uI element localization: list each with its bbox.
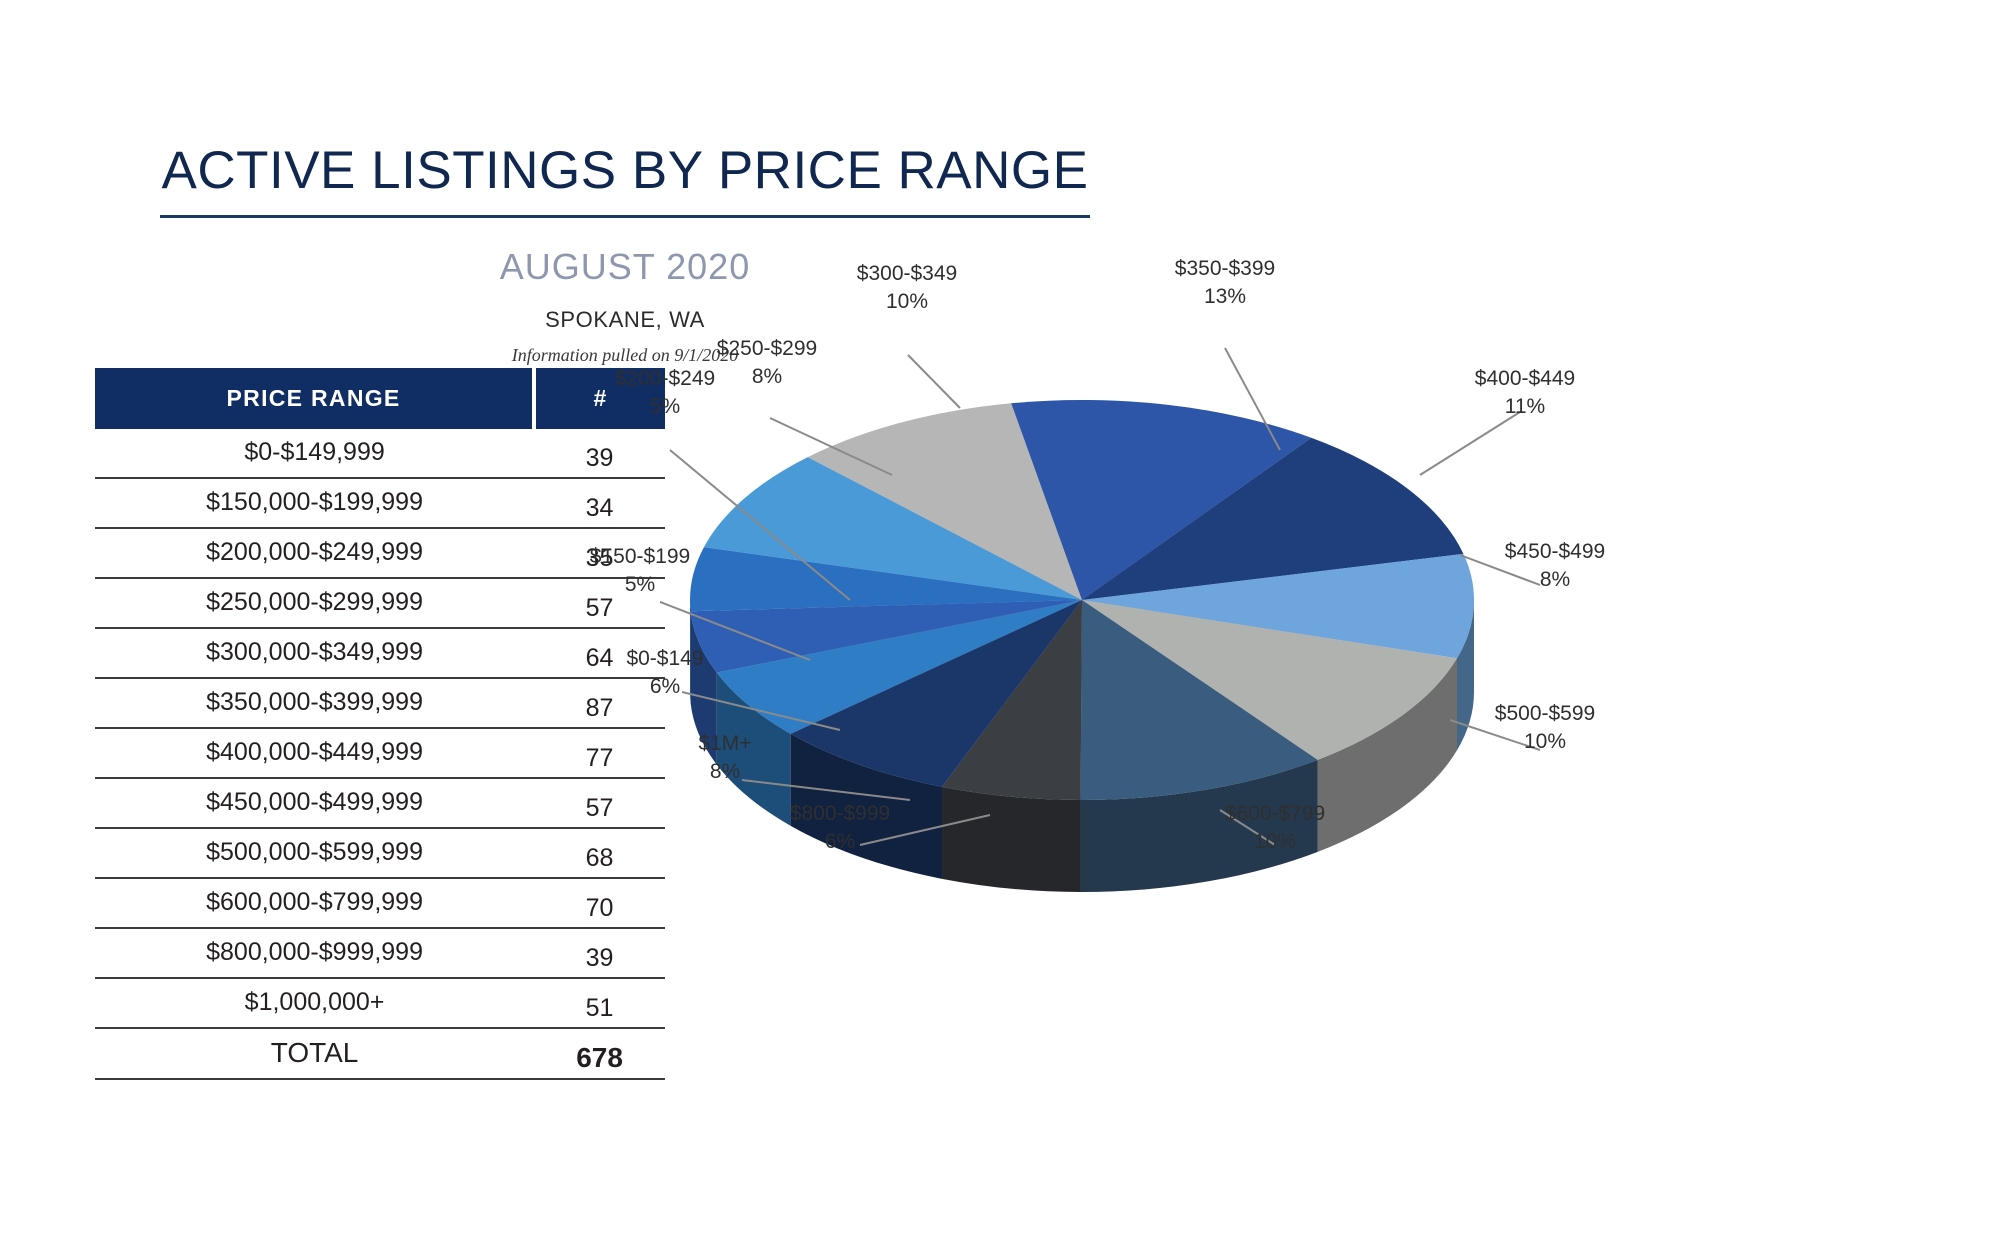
page-subtitle: AUGUST 2020	[0, 246, 1250, 288]
pie-label-350-399: $350-$399 13%	[1130, 255, 1320, 312]
pie-slice-side	[942, 787, 1081, 892]
table-body: $0-$149,99939$150,000-$199,99934$200,000…	[95, 429, 665, 1079]
table-row: $150,000-$199,99934	[95, 478, 665, 528]
cell-count: 39	[534, 429, 665, 478]
cell-price-range: $600,000-$799,999	[95, 878, 534, 928]
cell-count: 34	[534, 478, 665, 528]
cell-price-range: $200,000-$249,999	[95, 528, 534, 578]
cell-price-range: $150,000-$199,999	[95, 478, 534, 528]
cell-price-range: $0-$149,999	[95, 429, 534, 478]
pie-chart-svg	[660, 300, 2000, 1200]
total-label: TOTAL	[95, 1028, 534, 1079]
cell-price-range: $1,000,000+	[95, 978, 534, 1028]
pie-label-500-599: $500-$599 10%	[1450, 700, 1640, 757]
pie-label-600-799: $600-$799 10%	[1180, 800, 1370, 857]
cell-count: 70	[534, 878, 665, 928]
column-header-price-range: PRICE RANGE	[95, 368, 534, 429]
table-total-row: TOTAL678	[95, 1028, 665, 1079]
cell-count: 68	[534, 828, 665, 878]
cell-price-range: $450,000-$499,999	[95, 778, 534, 828]
table-row: $500,000-$599,99968	[95, 828, 665, 878]
pie-label-450-499: $450-$499 8%	[1460, 538, 1650, 595]
leader-line	[908, 355, 960, 408]
pie-chart: $300-$349 10% $350-$399 13% $250-$299 8%…	[660, 300, 2000, 1200]
pie-label-1m-plus: $1M+ 8%	[630, 730, 820, 787]
page-title: ACTIVE LISTINGS BY PRICE RANGE	[161, 0, 1088, 201]
price-range-table: PRICE RANGE # $0-$149,99939$150,000-$199…	[95, 368, 665, 1080]
cell-count: 51	[534, 978, 665, 1028]
pie-label-800-999: $800-$999 6%	[745, 800, 935, 857]
cell-count: 39	[534, 928, 665, 978]
pie-label-200-249: $200-$249 5%	[570, 365, 760, 422]
cell-price-range: $250,000-$299,999	[95, 578, 534, 628]
table-row: $1,000,000+51	[95, 978, 665, 1028]
pie-label-400-449: $400-$449 11%	[1430, 365, 1620, 422]
pie-label-150-199: $150-$199 5%	[545, 543, 735, 600]
table-row: $800,000-$999,99939	[95, 928, 665, 978]
table-row: $600,000-$799,99970	[95, 878, 665, 928]
cell-price-range: $400,000-$449,999	[95, 728, 534, 778]
table-row: $0-$149,99939	[95, 429, 665, 478]
price-range-table-wrapper: PRICE RANGE # $0-$149,99939$150,000-$199…	[95, 368, 665, 1080]
cell-price-range: $800,000-$999,999	[95, 928, 534, 978]
total-value: 678	[534, 1028, 665, 1079]
cell-price-range: $300,000-$349,999	[95, 628, 534, 678]
table-row: $450,000-$499,99957	[95, 778, 665, 828]
table-row: $400,000-$449,99977	[95, 728, 665, 778]
title-underline	[160, 215, 1090, 218]
pie-label-300-349: $300-$349 10%	[812, 260, 1002, 317]
pie-label-0-149: $0-$149 6%	[570, 645, 760, 702]
page-title-block: ACTIVE LISTINGS BY PRICE RANGE	[0, 0, 1250, 218]
cell-price-range: $350,000-$399,999	[95, 678, 534, 728]
cell-price-range: $500,000-$599,999	[95, 828, 534, 878]
